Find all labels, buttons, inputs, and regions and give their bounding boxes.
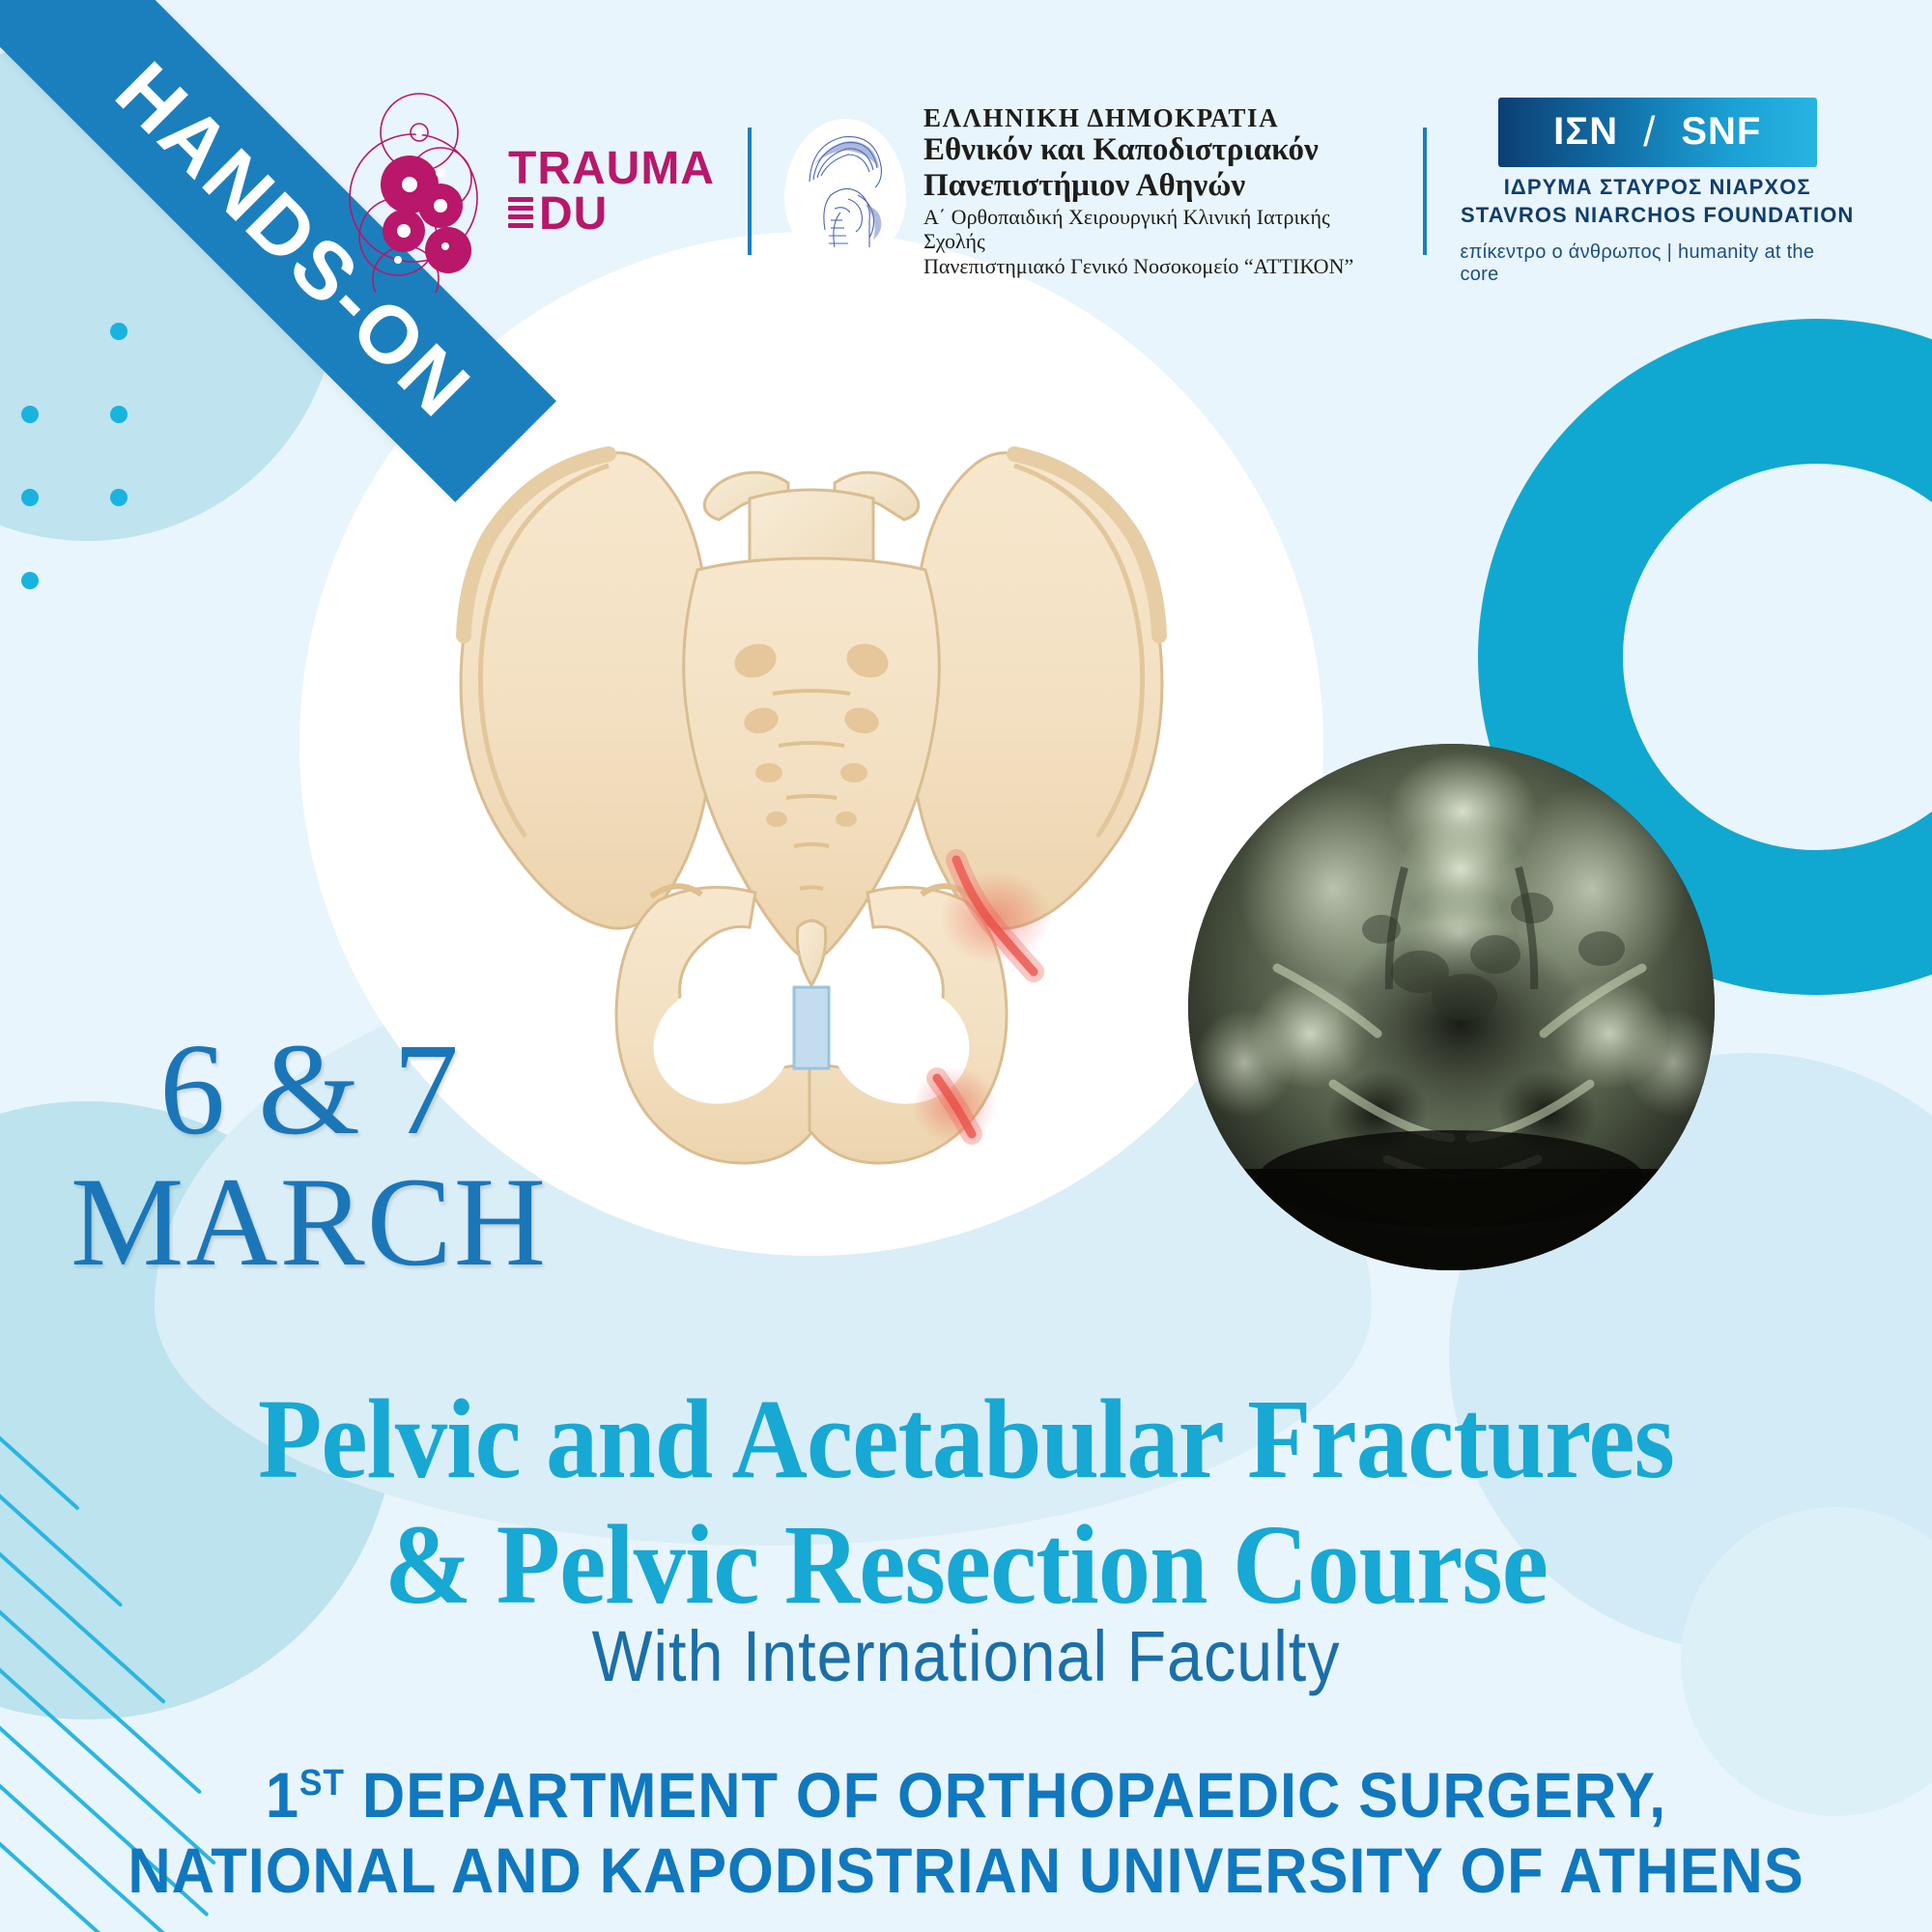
event-date-month: MARCH <box>58 1155 560 1290</box>
snf-tagline: επίκεντρο ο άνθρωπος | humanity at the c… <box>1460 241 1855 286</box>
snf-logo: ΙΣΝ / SNF ΙΔΡΥΜΑ ΣΤΑΥΡΟΣ ΝΙΑΡΧΟΣ STAVROS… <box>1460 98 1855 286</box>
snf-line-greek: ΙΔΡΥΜΑ ΣΤΑΥΡΟΣ ΝΙΑΡΧΟΣ <box>1504 175 1811 200</box>
organizer-line-1: 1ST DEPARTMENT OF ORTHOPAEDIC SURGERY, <box>68 1758 1864 1833</box>
snf-line-english: STAVROS NIARCHOS FOUNDATION <box>1461 203 1854 228</box>
organizer-line-2: NATIONAL AND KAPODISTRIAN UNIVERSITY OF … <box>68 1833 1864 1909</box>
snf-mark-greek: ΙΣΝ <box>1553 110 1618 154</box>
page-title-line-2: & Pelvic Resection Course <box>77 1502 1855 1628</box>
logo-divider-1 <box>748 128 752 255</box>
snf-mark: ΙΣΝ / SNF <box>1498 98 1817 167</box>
university-line-3: Πανεπιστήμιον Αθηνών <box>923 168 1390 204</box>
university-line-1: ΕΛΛΗΝΙΚΗ ΔΗΜΟΚΡΑΤΙΑ <box>923 103 1390 132</box>
university-line-4: Α΄ Ορθοπαιδική Χειρουργική Κλινική Ιατρι… <box>923 206 1390 253</box>
organizer-line-1-rest: DEPARTMENT OF ORTHOPAEDIC SURGERY, <box>345 1759 1666 1831</box>
snf-mark-slash: / <box>1643 108 1656 156</box>
page-subtitle: With International Faculty <box>97 1615 1835 1697</box>
university-line-2: Εθνικόν και Καποδιστριακόν <box>923 132 1390 168</box>
decor-dot-grid <box>21 406 224 657</box>
trauma-edu-wordmark: TRAUMA DU <box>508 146 715 237</box>
organizer-ordinal-suffix: ST <box>299 1763 345 1804</box>
poster-root: HANDS-ON <box>0 0 1932 1932</box>
edu-label: DU <box>539 191 608 237</box>
page-title: Pelvic and Acetabular Fractures & Pelvic… <box>77 1377 1855 1628</box>
pelvis-xray-image <box>1188 744 1715 1270</box>
organizer-ordinal: 1 <box>266 1759 299 1831</box>
page-title-line-1: Pelvic and Acetabular Fractures <box>77 1377 1855 1502</box>
trauma-label: TRAUMA <box>508 146 715 191</box>
athena-head-icon <box>784 119 906 264</box>
event-date-days: 6 & 7 <box>58 1024 560 1155</box>
event-date: 6 & 7 MARCH <box>58 1024 560 1290</box>
book-icon <box>508 197 533 232</box>
logo-divider-2 <box>1423 128 1427 255</box>
edu-label-row: DU <box>508 191 715 237</box>
snf-mark-latin: SNF <box>1681 110 1761 154</box>
organizer-department: 1ST DEPARTMENT OF ORTHOPAEDIC SURGERY, N… <box>68 1758 1864 1909</box>
